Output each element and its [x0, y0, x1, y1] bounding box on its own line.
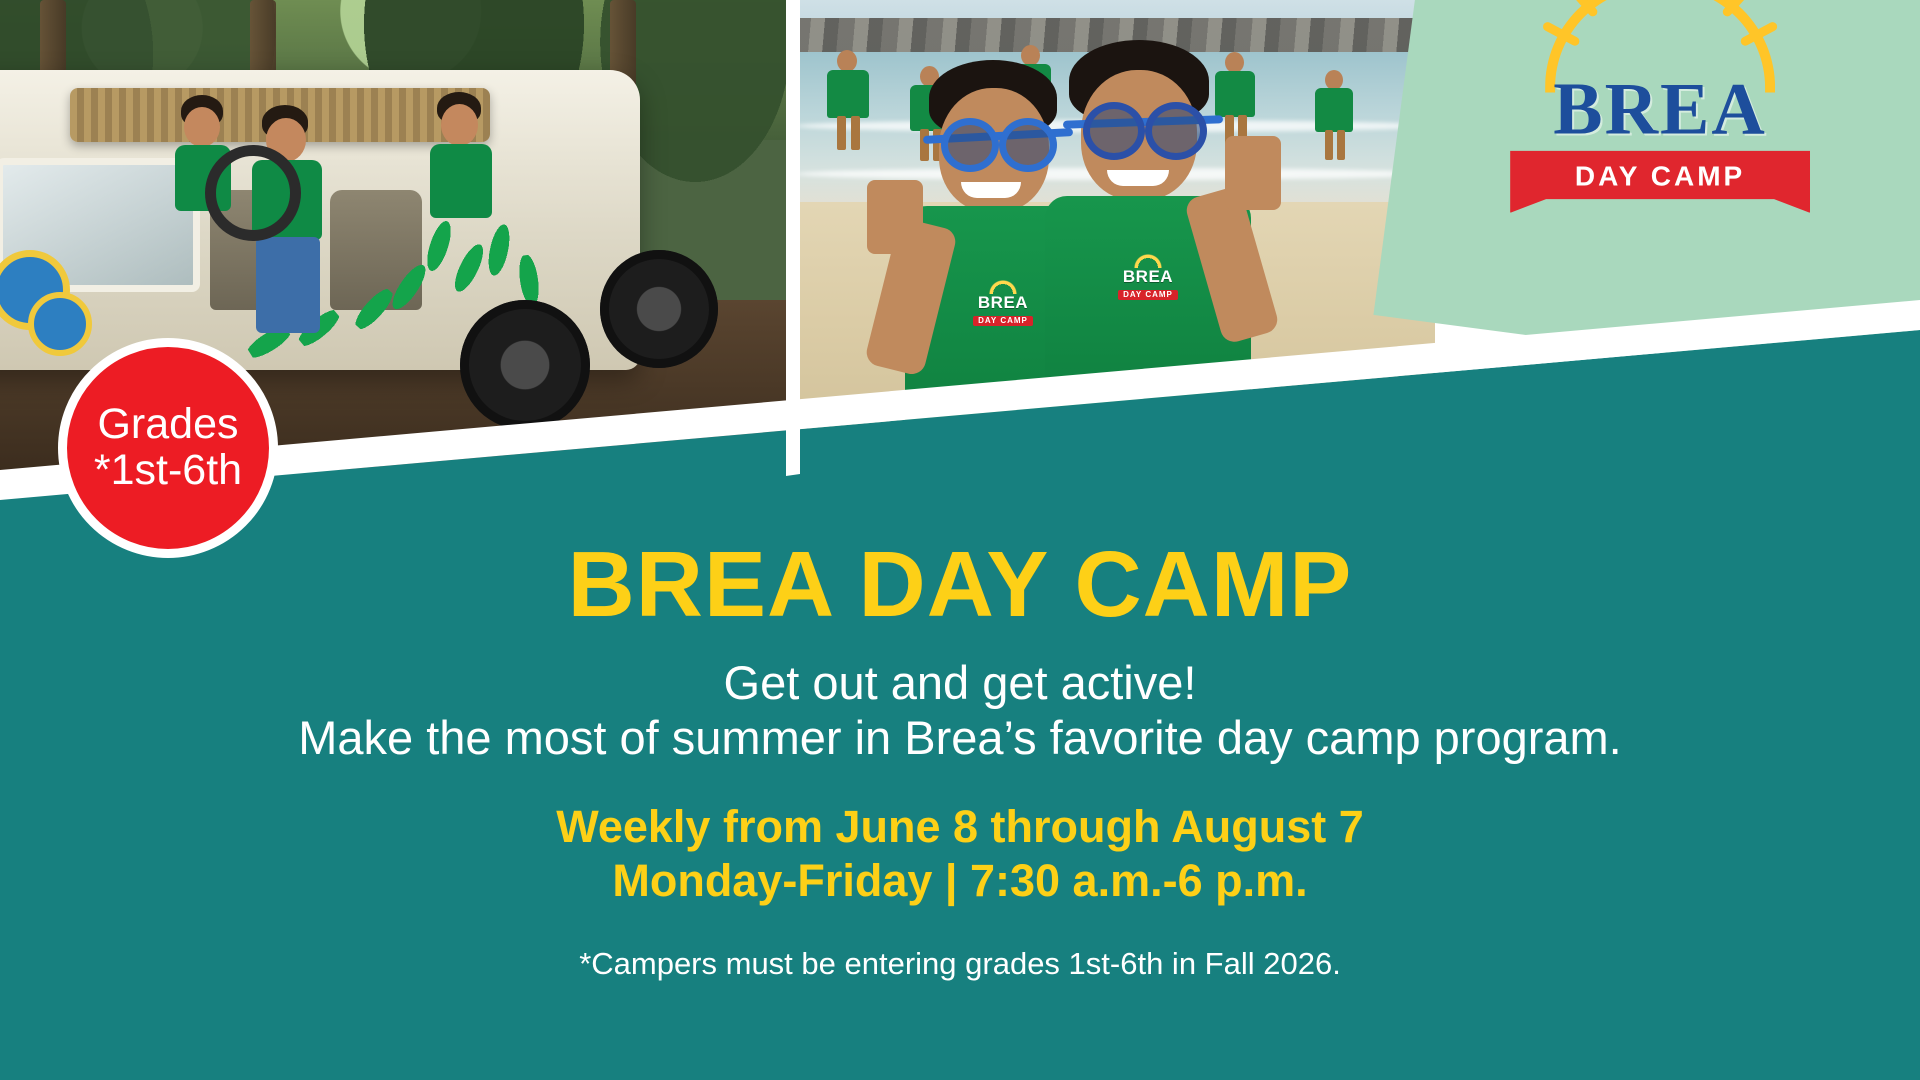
- shirt-logo-subtitle: DAY CAMP: [973, 316, 1033, 326]
- camper-head: [1325, 70, 1343, 90]
- camper-shirt: [827, 70, 869, 118]
- schedule-hours: Monday-Friday | 7:30 a.m.-6 p.m.: [0, 854, 1920, 908]
- logo-brand: BREA: [1495, 75, 1825, 145]
- sun-icon: [1089, 254, 1207, 268]
- brea-day-camp-logo: BREA DAY CAMP: [1495, 1, 1825, 213]
- swim-goggle-lens: [1145, 102, 1207, 160]
- flyer-canvas: BREA DAY CAMP BREA: [0, 0, 1920, 1080]
- beach-photo: BREA DAY CAMP BREA: [795, 0, 1435, 470]
- grades-badge-line-1: Grades: [97, 402, 238, 448]
- camper-head: [1021, 45, 1040, 66]
- camper-head: [1225, 52, 1244, 73]
- fern-decal: [449, 239, 490, 297]
- peace-sign-hand: [1225, 136, 1281, 210]
- camper-smile: [1107, 170, 1169, 186]
- camper-head: [837, 50, 857, 72]
- child-shirt: [430, 144, 492, 218]
- photo-band: BREA DAY CAMP BREA: [0, 0, 1920, 470]
- camper-smile: [961, 182, 1021, 198]
- jeep-wheel: [460, 300, 590, 430]
- logo-subtitle: DAY CAMP: [1575, 161, 1745, 193]
- child-head: [184, 107, 220, 147]
- shirt-logo-brand: BREA: [1089, 268, 1207, 285]
- camper-shirt: [1215, 71, 1255, 117]
- child-pants: [256, 237, 320, 333]
- child-head: [441, 104, 478, 146]
- hood-circle-decal: [28, 292, 92, 356]
- camper-shirt: [1315, 88, 1353, 132]
- camper-leg: [1325, 130, 1333, 160]
- shirt-logo: BREA DAY CAMP: [1089, 254, 1207, 301]
- spare-tire: [600, 250, 718, 368]
- logo-panel: BREA DAY CAMP: [1373, 0, 1920, 388]
- peace-sign-hand: [867, 180, 923, 254]
- content-panel: BREA DAY CAMP Get out and get active! Ma…: [0, 520, 1920, 1080]
- camper-leg: [1337, 130, 1345, 160]
- grades-badge: Grades *1st-6th: [58, 338, 278, 558]
- fern-decal: [517, 254, 542, 306]
- grades-badge-line-2: *1st-6th: [94, 448, 242, 494]
- fern-decal: [422, 218, 455, 273]
- camper-leg: [920, 129, 929, 161]
- fern-decal: [484, 219, 514, 281]
- steering-wheel: [205, 145, 301, 241]
- footnote: *Campers must be entering grades 1st-6th…: [0, 946, 1920, 982]
- tagline-line-2: Make the most of summer in Brea’s favori…: [0, 710, 1920, 765]
- logo-ribbon: DAY CAMP: [1510, 151, 1810, 213]
- camper-leg: [851, 116, 860, 150]
- swim-goggle-lens: [999, 118, 1057, 172]
- swim-goggle-lens: [1083, 102, 1145, 160]
- page-title: BREA DAY CAMP: [0, 520, 1920, 631]
- camper-leg: [837, 116, 846, 150]
- schedule-dates: Weekly from June 8 through August 7: [0, 800, 1920, 854]
- schedule: Weekly from June 8 through August 7 Mond…: [0, 800, 1920, 908]
- swim-goggle-lens: [941, 118, 999, 172]
- shirt-logo-subtitle: DAY CAMP: [1118, 290, 1178, 300]
- tagline: Get out and get active! Make the most of…: [0, 655, 1920, 766]
- tagline-line-1: Get out and get active!: [0, 655, 1920, 710]
